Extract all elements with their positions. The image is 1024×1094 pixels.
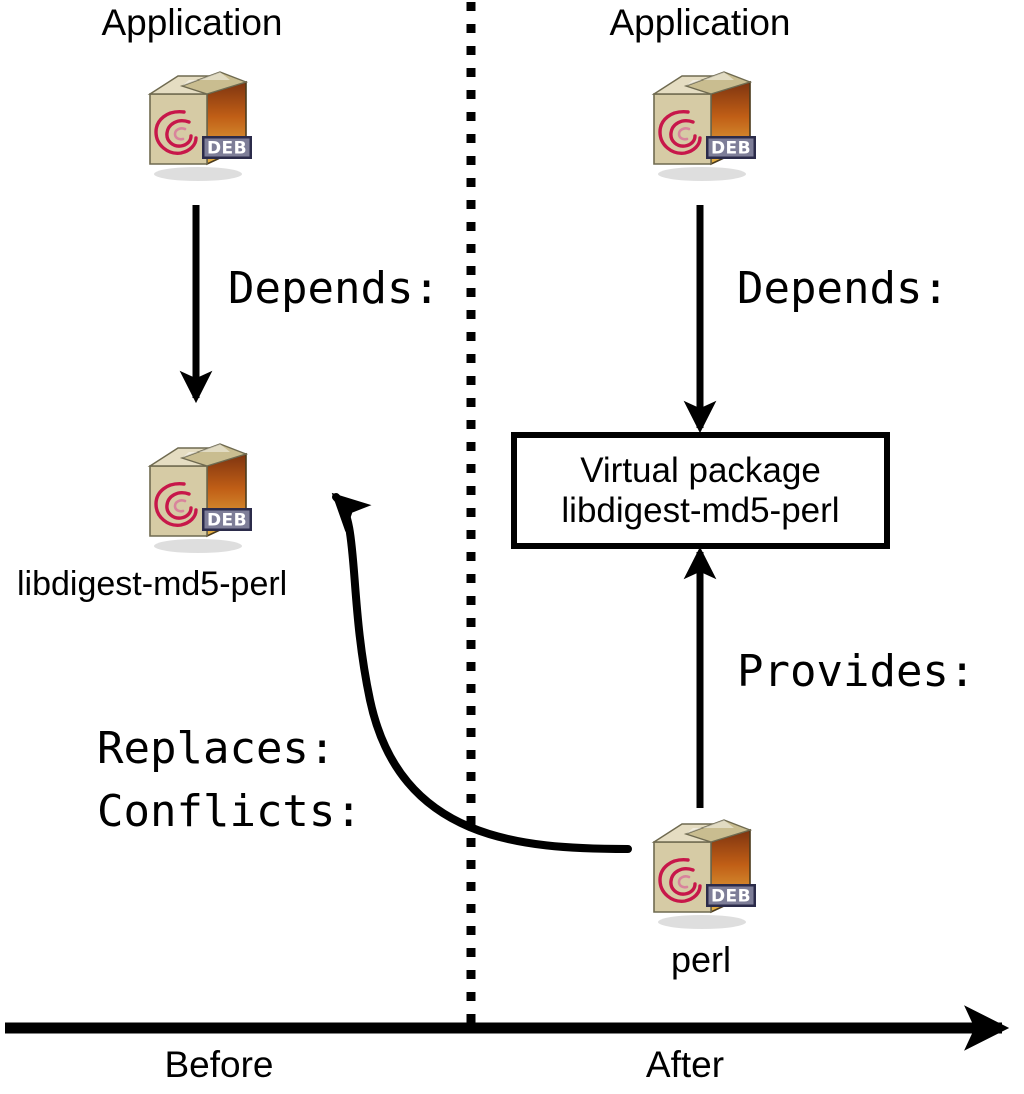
svg-text:DEB: DEB [207, 510, 247, 530]
right-depends-label: Depends: [737, 267, 949, 311]
left-target-package-icon: DEB [134, 432, 258, 556]
svg-text:DEB: DEB [207, 138, 247, 158]
deb-badge: DEB [706, 136, 756, 159]
provider-package-name: perl [671, 942, 731, 978]
svg-text:DEB: DEB [711, 886, 751, 906]
timeline-before-label: Before [164, 1046, 273, 1083]
svg-text:DEB: DEB [711, 138, 751, 158]
conflicts-label: Conflicts: [97, 790, 362, 834]
provides-label: Provides: [737, 650, 975, 694]
left-target-package-name: libdigest-md5-perl [17, 567, 287, 601]
right-application-package-icon: DEB [638, 60, 762, 184]
arrow-replaces-conflicts [336, 497, 628, 849]
timeline-after-label: After [646, 1046, 724, 1083]
right-header-label: Application [609, 4, 790, 41]
deb-badge: DEB [706, 884, 756, 907]
virtual-package-line-1: Virtual package [580, 451, 821, 491]
virtual-package-line-2: libdigest-md5-perl [561, 491, 839, 531]
left-header-label: Application [101, 4, 282, 41]
provider-package-icon: DEB [638, 808, 762, 932]
replaces-label: Replaces: [97, 727, 335, 771]
virtual-package-box: Virtual package libdigest-md5-perl [511, 432, 890, 549]
diagram-canvas: Application [0, 0, 1024, 1094]
deb-badge: DEB [202, 508, 252, 531]
deb-badge: DEB [202, 136, 252, 159]
left-application-package-icon: DEB [134, 60, 258, 184]
left-depends-label: Depends: [228, 267, 440, 311]
